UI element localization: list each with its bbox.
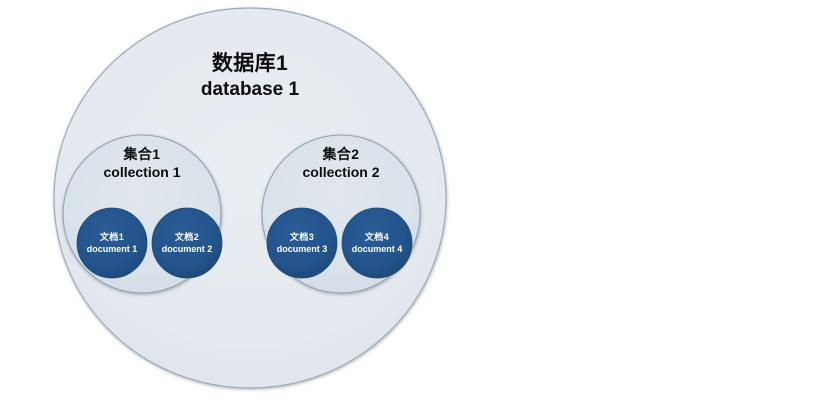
document-circle-4[interactable] [342,208,412,278]
document-circle-2[interactable] [152,208,222,278]
diagram-canvas: 数据库1 database 1 集合1 collection 1 集合2 col… [0,0,830,400]
document-circle-1[interactable] [77,208,147,278]
venn-diagram-graphic [0,0,830,400]
document-circle-3[interactable] [267,208,337,278]
